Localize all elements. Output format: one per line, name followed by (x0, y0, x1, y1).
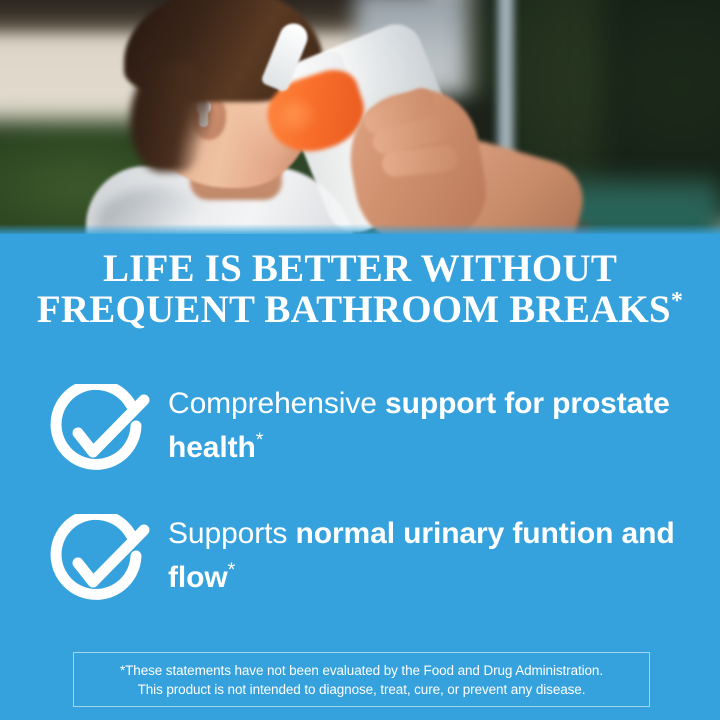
product-marketing-banner: LIFE IS BETTER WITHOUT FREQUENT BATHROOM… (0, 0, 720, 720)
fda-disclaimer-line-1: *These statements have not been evaluate… (120, 661, 603, 680)
fda-disclaimer-text: *These statements have not been evaluate… (120, 661, 603, 699)
blue-content-panel: LIFE IS BETTER WITHOUT FREQUENT BATHROOM… (0, 234, 720, 720)
hero-photo (0, 0, 720, 234)
headline-line-2-text: FREQUENT BATHROOM BREAKS (37, 288, 671, 331)
photo-bottom-fade (0, 224, 720, 234)
check-circle-icon (48, 384, 152, 480)
orange-drink-highlight (278, 100, 318, 136)
benefit-asterisk: * (228, 559, 236, 581)
benefit-text: Comprehensive support for prostate healt… (168, 382, 698, 470)
benefit-list: Comprehensive support for prostate healt… (0, 382, 720, 642)
list-item: Comprehensive support for prostate healt… (0, 382, 720, 512)
benefit-text-regular: Comprehensive (168, 387, 385, 420)
man-hair-edge (130, 62, 200, 172)
fda-disclaimer-box: *These statements have not been evaluate… (73, 652, 650, 707)
list-item: Supports normal urinary funtion and flow… (0, 512, 720, 642)
fda-disclaimer-line-2: This product is not intended to diagnose… (120, 680, 603, 699)
background-tree-far-right (600, 0, 720, 200)
benefit-text: Supports normal urinary funtion and flow… (168, 512, 698, 600)
check-circle-icon (48, 514, 152, 610)
benefit-asterisk: * (256, 429, 264, 451)
headline-line-2: FREQUENT BATHROOM BREAKS* (0, 289, 720, 330)
benefit-text-regular: Supports (168, 517, 296, 550)
headline-asterisk: * (671, 287, 683, 314)
headline: LIFE IS BETTER WITHOUT FREQUENT BATHROOM… (0, 248, 720, 330)
headline-line-1: LIFE IS BETTER WITHOUT (0, 248, 720, 289)
